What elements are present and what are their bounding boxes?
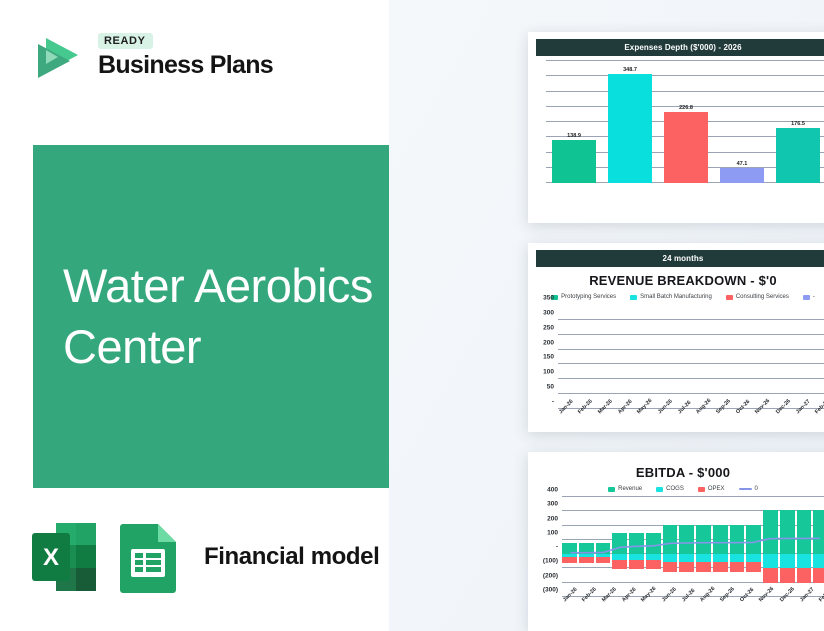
revenue-legend-swatch-icon [630, 295, 637, 300]
hero-title: Water Aerobics Center [33, 256, 373, 376]
hero-title-banner: Water Aerobics Center [33, 145, 389, 488]
expenses-chart-card[interactable]: Expenses Depth ($'000) - 2026 138.9348.7… [528, 32, 824, 223]
ebitda-y-tick: (100) [543, 558, 562, 565]
expenses-bar-value-label: 47.1 [720, 161, 763, 167]
revenue-chart-title: REVENUE BREAKDOWN - $'0 [536, 273, 824, 288]
ebitda-legend-swatch-icon [608, 487, 615, 492]
ebitda-legend-label: Revenue [618, 486, 642, 492]
slide-canvas: READY Business Plans Water Aerobics Cent… [0, 0, 824, 631]
ebitda-legend-label: 0 [755, 486, 758, 492]
expenses-bar-column: 348.7 [608, 61, 651, 183]
expenses-plot-area: 138.9348.7226.847.1176.5 [546, 61, 824, 183]
revenue-y-tick: 150 [543, 354, 558, 361]
hero-title-line-2: Center [63, 317, 373, 377]
ready-badge: READY [98, 33, 153, 49]
revenue-legend-item: Small Batch Manufacturing [630, 294, 712, 300]
svg-text:X: X [43, 544, 59, 571]
brand-text-block: READY Business Plans [98, 33, 273, 78]
ebitda-legend-item: Revenue [608, 486, 642, 492]
revenue-legend-label: Prototyping Services [561, 294, 616, 300]
footer-row: X Financial model [30, 521, 379, 593]
revenue-y-tick: 350 [543, 295, 558, 302]
revenue-legend-label: Consulting Services [736, 294, 789, 300]
revenue-y-tick: 250 [543, 324, 558, 331]
ebitda-y-tick: 100 [547, 529, 562, 536]
revenue-legend-swatch-icon [803, 295, 810, 300]
google-sheets-file-icon [114, 521, 182, 593]
ebitda-x-axis: Jan-26Feb-26Mar-26Apr-26May-26Jun-26Jul-… [562, 599, 824, 605]
revenue-legend-item: Consulting Services [726, 294, 789, 300]
ebitda-chart-card[interactable]: EBITDA - $'000 RevenueCOGSOPEX0 40030020… [528, 452, 824, 631]
ebitda-legend-line-icon [739, 488, 752, 490]
brand-lockup: READY Business Plans [30, 28, 273, 84]
revenue-chart-card[interactable]: 24 months REVENUE BREAKDOWN - $'0 Protot… [528, 243, 824, 432]
expenses-bar-column: 226.8 [664, 61, 707, 183]
expenses-chart-header: Expenses Depth ($'000) - 2026 [536, 39, 824, 56]
ebitda-plot-area: 400300200100-(100)(200)(300) [562, 497, 824, 597]
revenue-y-tick: 100 [543, 369, 558, 376]
ebitda-y-tick: (300) [543, 587, 562, 594]
expenses-bar [664, 112, 707, 183]
expenses-bar-column: 176.5 [776, 61, 819, 183]
revenue-legend-item: - [803, 294, 815, 300]
ebitda-y-tick: 200 [547, 515, 562, 522]
expenses-bar-group: 138.9348.7226.847.1176.5 [546, 61, 824, 183]
ebitda-legend-swatch-icon [698, 487, 705, 492]
hero-title-line-1: Water Aerobics [63, 256, 373, 316]
ebitda-zero-line-series [562, 497, 824, 597]
expenses-bar [776, 128, 819, 183]
revenue-legend-label: - [813, 294, 815, 300]
ebitda-legend-label: OPEX [708, 486, 725, 492]
ebitda-y-tick: 400 [547, 487, 562, 494]
revenue-x-axis: Jan-26Feb-26Mar-26Apr-26May-26Jun-26Jul-… [558, 411, 824, 417]
play-triangle-logo-icon [30, 28, 86, 84]
revenue-legend-item: Prototyping Services [551, 294, 616, 300]
expenses-bar [720, 168, 763, 183]
ebitda-legend-swatch-icon [656, 487, 663, 492]
ebitda-y-tick: 300 [547, 501, 562, 508]
revenue-legend-swatch-icon [726, 295, 733, 300]
ebitda-chart-title: EBITDA - $'000 [536, 465, 824, 480]
expenses-bar-column: 47.1 [720, 61, 763, 183]
revenue-y-tick: 200 [543, 339, 558, 346]
expenses-bar-value-label: 348.7 [608, 67, 651, 73]
expenses-bar [608, 74, 651, 183]
revenue-chart-legend: Prototyping ServicesSmall Batch Manufact… [536, 294, 824, 300]
excel-file-icon: X [30, 521, 98, 593]
revenue-y-tick: 50 [547, 384, 558, 391]
footer-label: Financial model [204, 543, 379, 571]
expenses-bar-value-label: 138.9 [552, 133, 595, 139]
ebitda-legend-item: COGS [656, 486, 684, 492]
revenue-plot-area: 35030025020015010050- [558, 305, 824, 409]
revenue-y-tick: 300 [543, 309, 558, 316]
expenses-bar-value-label: 226.8 [664, 105, 707, 111]
ebitda-legend-item: 0 [739, 486, 758, 492]
ebitda-legend-item: OPEX [698, 486, 725, 492]
ebitda-legend-label: COGS [666, 486, 684, 492]
expenses-bar-value-label: 176.5 [776, 121, 819, 127]
expenses-bar [552, 140, 595, 183]
revenue-bar-group [558, 305, 824, 409]
brand-name: Business Plans [98, 52, 273, 78]
revenue-chart-subheader: 24 months [536, 250, 824, 267]
revenue-legend-label: Small Batch Manufacturing [640, 294, 712, 300]
expenses-bar-column: 138.9 [552, 61, 595, 183]
ebitda-y-tick: (200) [543, 572, 562, 579]
ebitda-chart-legend: RevenueCOGSOPEX0 [536, 486, 824, 492]
